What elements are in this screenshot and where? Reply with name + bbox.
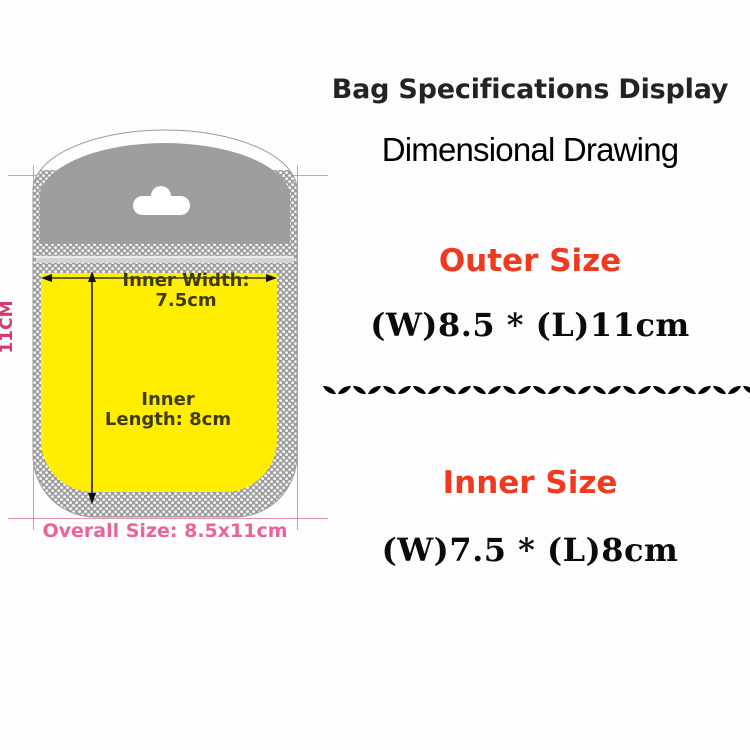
inner-length-label: Inner Length: 8cm [60, 390, 276, 430]
outer-size-value: (W)8.5 * (L)11cm [310, 306, 750, 344]
specifications-panel: Bag Specifications Display Dimensional D… [310, 0, 750, 750]
inner-size-value: (W)7.5 * (L)8cm [310, 531, 750, 569]
page-subtitle: Dimensional Drawing [310, 131, 750, 169]
inner-size-label: Inner Size [310, 465, 750, 501]
scallop-divider-icon [322, 376, 750, 402]
zipper-strip-icon [36, 256, 294, 263]
page-title: Bag Specifications Display [310, 74, 750, 105]
overall-size-label: Overall Size: 8.5x11cm [33, 520, 297, 542]
bag-dimensional-drawing: 8.5CM 11CM [0, 0, 320, 570]
inner-width-label: Inner Width: 7.5cm [96, 271, 276, 311]
outer-size-label: Outer Size [310, 243, 750, 279]
